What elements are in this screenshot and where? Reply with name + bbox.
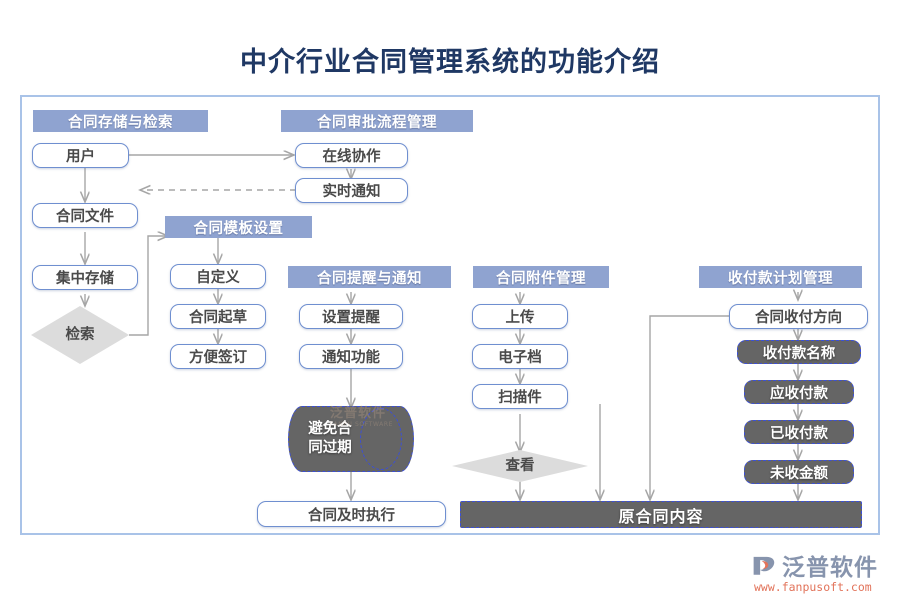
logo-name: 泛普软件	[782, 548, 878, 582]
node-contract-file[interactable]: 合同文件	[32, 203, 138, 228]
node-set-reminder[interactable]: 设置提醒	[299, 304, 403, 329]
node-avoid-contract-expiry[interactable]: 避免合 同过期	[288, 406, 414, 472]
node-view-label: 查看	[506, 457, 535, 475]
banner-attachment-mgmt: 合同附件管理	[473, 266, 609, 288]
node-online-collaboration[interactable]: 在线协作	[295, 143, 408, 168]
logo-url: www.fanpusoft.com	[754, 580, 878, 594]
node-easy-signing[interactable]: 方便签订	[170, 344, 266, 369]
avoid-expiry-line2: 同过期	[308, 439, 352, 458]
node-contract-draft[interactable]: 合同起草	[170, 304, 266, 329]
logo-mark-icon	[752, 552, 778, 578]
node-central-storage[interactable]: 集中存储	[32, 265, 138, 290]
node-timely-execution[interactable]: 合同及时执行	[257, 501, 446, 527]
node-notification-function[interactable]: 通知功能	[299, 344, 403, 369]
node-view-decision[interactable]: 查看	[452, 450, 588, 482]
node-receivable-payable[interactable]: 应收付款	[744, 380, 854, 404]
brand-logo: 泛普软件 www.fanpusoft.com	[752, 548, 878, 594]
node-original-contract-content[interactable]: 原合同内容	[460, 501, 862, 528]
node-received-paid[interactable]: 已收付款	[744, 420, 854, 444]
banner-template-setting: 合同模板设置	[165, 216, 312, 238]
banner-reminder-notice: 合同提醒与通知	[288, 266, 451, 288]
node-search-decision[interactable]: 检索	[31, 306, 129, 364]
node-search-label: 检索	[66, 326, 95, 344]
node-scanned-file[interactable]: 扫描件	[472, 384, 568, 409]
avoid-expiry-line1: 避免合	[308, 420, 352, 439]
node-electronic-file[interactable]: 电子档	[472, 344, 568, 369]
node-payment-name[interactable]: 收付款名称	[737, 340, 861, 364]
node-customize[interactable]: 自定义	[170, 264, 266, 289]
node-upload[interactable]: 上传	[472, 304, 568, 329]
node-realtime-notification[interactable]: 实时通知	[295, 178, 408, 203]
banner-approval-flow: 合同审批流程管理	[281, 110, 473, 132]
node-user[interactable]: 用户	[32, 143, 129, 168]
banner-contract-storage: 合同存储与检索	[33, 110, 208, 132]
cylinder-label: 避免合 同过期	[288, 406, 414, 472]
node-unreceived-amount[interactable]: 未收金额	[744, 460, 854, 484]
node-payment-direction[interactable]: 合同收付方向	[729, 304, 868, 329]
banner-payment-plan: 收付款计划管理	[699, 266, 862, 288]
diagram-canvas: 中介行业合同管理系统的功能介绍	[0, 0, 900, 600]
